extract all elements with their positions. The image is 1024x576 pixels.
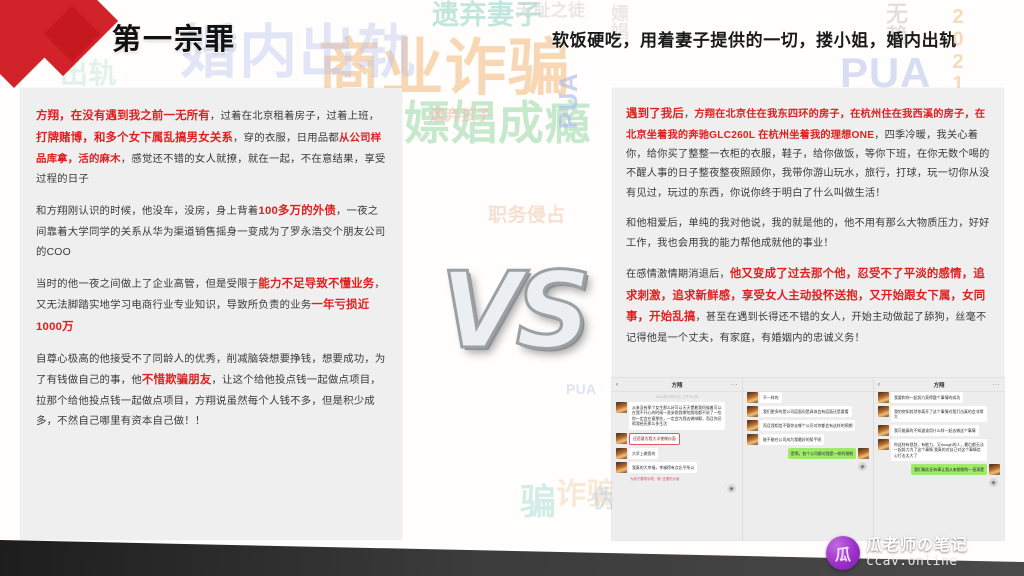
chat-bubble: 我可能真的不知道该用什么样一起去做这个事情 — [891, 425, 979, 436]
body-text: ，过着在北京租着房子，过着上班， — [210, 111, 379, 122]
body-text: 当时的他一夜之间做上了企业高管，但是受限于 — [36, 279, 258, 290]
chat-bubble: 我真的大幸福，幸福得有点忘乎所以 — [629, 462, 697, 473]
paragraph: 方翔，在没有遇到我之前一无所有，过着在北京租着房子，过着上班，打牌赌博，和多个女… — [36, 106, 386, 190]
avatar[interactable] — [747, 420, 758, 431]
vs-emblem: VS — [418, 246, 608, 376]
chat-bubble: 从来没有那个女生那么好可以天天惯着我伺候着可以在我不开心的时候一直安慰我哪怕我啥… — [629, 402, 725, 430]
chat-column: ‹方翔···2021年7月20日 上午10:36从来没有那个女生那么好可以天天惯… — [612, 378, 743, 540]
chat-header: ‹方翔··· — [612, 378, 742, 392]
chat-header — [743, 378, 873, 392]
chat-message: 是啊，各个公司都对我是一样的预期 — [747, 448, 869, 459]
chat-message: 能不能在公司成为我最好的帮手呢 — [747, 434, 869, 445]
wordcloud-word: PUA — [555, 73, 581, 129]
chat-message: 我们更多的是公司层面但是具体会有层面还是要看 — [747, 406, 869, 417]
wordcloud-word: 遗弃孩子 — [430, 108, 491, 123]
chat-bubble: 我怕突如其然你离开了这个事情对我打击真的会非常大 — [891, 406, 987, 422]
voice-input-icon[interactable]: ◉ — [989, 478, 998, 487]
highlight-text: 100多万的外债 — [258, 205, 336, 217]
avatar[interactable] — [858, 448, 869, 459]
avatar[interactable] — [747, 434, 758, 445]
page-title-right: 软饭硬吃，用着妻子提供的一切，搂小姐，婚内出轨 — [552, 26, 957, 51]
right-panel-text: 遇到了我后，方翔在北京住在我东四环的房子，在杭州住在我西溪的房子，在北京坐着我的… — [612, 88, 1004, 348]
chat-message: 你这样有规划，有能力，又though的人，最后都无法一起努力为了这个事情 我真的… — [878, 439, 1000, 461]
watermark: 瓜 瓜老师の笔记 ccav.online — [826, 536, 968, 570]
chat-annotation: 为我只要喝水喝，哦~还要吃炒面 — [630, 476, 738, 481]
chat-message: 而且我相信不管你去哪个公司对你都会有这样的预期 — [747, 420, 869, 431]
left-panel-text: 方翔，在没有遇到我之前一无所有，过着在北京租着房子，过着上班，打牌赌博，和多个女… — [20, 88, 402, 432]
paragraph: 自尊心极高的他接受不了同龄人的优秀，削减脑袋想要挣钱，想要成功，为了有钱做自己的… — [36, 350, 386, 432]
avatar[interactable] — [878, 406, 889, 417]
chat-contact-name: 方翔 — [874, 381, 1004, 389]
avatar[interactable] — [878, 439, 889, 450]
avatar[interactable] — [616, 433, 627, 444]
chat-column: 不一样的我们更多的是公司层面但是具体会有层面还是要看而且我相信不管你去哪个公司对… — [743, 378, 874, 540]
body-text: 和方翔刚认识的时候，他没车，没房，身上背着 — [36, 206, 258, 217]
chat-message: 从来没有那个女生那么好可以天天惯着我伺候着可以在我不开心的时候一直安慰我哪怕我啥… — [616, 402, 738, 430]
chat-bubble: 不一样的 — [760, 392, 782, 403]
chat-contact-name: 方翔 — [612, 381, 742, 389]
chat-bubble: 我要和你一起努力获得整个事情的成功 — [891, 392, 963, 403]
chat-bubble: 你这样有规划，有能力，又though的人，最后都无法一起努力为了这个事情 我真的… — [891, 439, 987, 461]
watermark-logo-icon: 瓜 — [826, 536, 860, 570]
body-text: 和他相爱后，单纯的我对他说，我的就是他的，他不用有那么大物质压力，好好工作，我也… — [626, 218, 990, 248]
voice-input-icon[interactable]: ◉ — [858, 462, 867, 471]
chat-message: 我怕突如其然你离开了这个事情对我打击真的会非常大 — [878, 406, 1000, 422]
left-content-panel: 方翔，在没有遇到我之前一无所有，过着在北京租着房子，过着上班，打牌赌博，和多个女… — [20, 88, 402, 540]
avatar[interactable] — [616, 462, 627, 473]
avatar[interactable] — [747, 406, 758, 417]
chat-bubble: 我们确实还有事让我从来都想的一直清楚 — [911, 464, 987, 475]
chat-bubble: 而且我相信不管你去哪个公司对你都会有这样的预期 — [760, 420, 855, 431]
chat-message: 我们确实还有事让我从来都想的一直清楚 — [878, 464, 1000, 475]
chat-bubble: 还愿意为我大半夜做炒面 — [629, 433, 680, 446]
highlight-text: 打牌赌博，和多个女下属乱搞男女关系 — [36, 132, 233, 144]
wordcloud-word: PUA — [566, 382, 596, 396]
highlight-text: 不惜欺骗朋友 — [142, 374, 212, 386]
chat-column: ‹方翔···我要和你一起努力获得整个事情的成功我怕突如其然你离开了这个事情对我打… — [874, 378, 1004, 540]
watermark-text: 瓜老师の笔记 ccav.online — [866, 538, 968, 568]
body-text: ， — [684, 109, 694, 120]
avatar[interactable] — [616, 402, 627, 413]
wordcloud-word: 职务侵占 — [488, 206, 566, 225]
paragraph: 遇到了我后，方翔在北京住在我东四环的房子，在杭州住在我西溪的房子，在北京坐着我的… — [626, 104, 990, 203]
watermark-line2: ccav.online — [866, 555, 968, 569]
avatar[interactable] — [989, 464, 1000, 475]
page-title-left: 第一宗罪 — [112, 16, 236, 58]
chat-bubble: 我们更多的是公司层面但是具体会有层面还是要看 — [760, 406, 852, 417]
chat-timestamp: 2021年7月20日 上午10:36 — [612, 395, 742, 400]
voice-input-icon[interactable]: ◉ — [727, 484, 736, 493]
chat-bubble: 能不能在公司成为我最好的帮手呢 — [760, 434, 824, 445]
wechat-chat-screenshot: ‹方翔···2021年7月20日 上午10:36从来没有那个女生那么好可以天天惯… — [612, 378, 1004, 540]
body-text: 在感情激情期消退后， — [626, 269, 730, 280]
chat-message: 还愿意为我大半夜做炒面 — [616, 433, 738, 446]
avatar[interactable] — [616, 448, 627, 459]
chat-message: 大早上做您的 — [616, 448, 738, 459]
chat-header: ‹方翔··· — [874, 378, 1004, 392]
wordcloud-word: 无耻之徒 — [516, 2, 585, 19]
chat-message: 不一样的 — [747, 392, 869, 403]
avatar[interactable] — [878, 392, 889, 403]
watermark-line1: 瓜老师の笔记 — [866, 538, 968, 555]
avatar[interactable] — [878, 425, 889, 436]
paragraph: 当时的他一夜之间做上了企业高管，但是受限于能力不足导致不懂业务，又无法脚踏实地学… — [36, 274, 386, 340]
avatar[interactable] — [747, 392, 758, 403]
highlight-text: 方翔，在没有遇到我之前一无所有 — [36, 110, 210, 122]
slide-canvas: 遗弃妻子商业诈骗嫖娼成瘾PUAPUA婚内出轨职务侵占职务侵占遗弃孩子嫖娼成瘾遗弃… — [0, 0, 1024, 576]
chat-bubble: 大早上做您的 — [629, 448, 658, 459]
paragraph: 在感情激情期消退后，他又变成了过去那个他，忍受不了平淡的感情，追求刺激，追求新鲜… — [626, 264, 990, 348]
paragraph: 和方翔刚认识的时候，他没车，没房，身上背着100多万的外债，一夜之间靠着大学同学… — [36, 201, 386, 263]
chat-message: 我要和你一起努力获得整个事情的成功 — [878, 392, 1000, 403]
highlight-text: 遇到了我后 — [626, 108, 684, 120]
red-ribbon-decoration — [0, 0, 130, 74]
chat-message: 我可能真的不知道该用什么样一起去做这个事情 — [878, 425, 1000, 436]
chat-bubble: 是啊，各个公司都对我是一样的预期 — [788, 448, 856, 459]
highlight-text: 能力不足导致不懂业务 — [258, 278, 374, 290]
paragraph: 和他相爱后，单纯的我对他说，我的就是他的，他不用有那么大物质压力，好好工作，我也… — [626, 214, 990, 253]
wordcloud-word: 骗 — [520, 484, 557, 520]
chat-message: 我真的大幸福，幸福得有点忘乎所以 — [616, 462, 738, 473]
body-text: ，穿的衣服，日用品都 — [233, 133, 339, 144]
